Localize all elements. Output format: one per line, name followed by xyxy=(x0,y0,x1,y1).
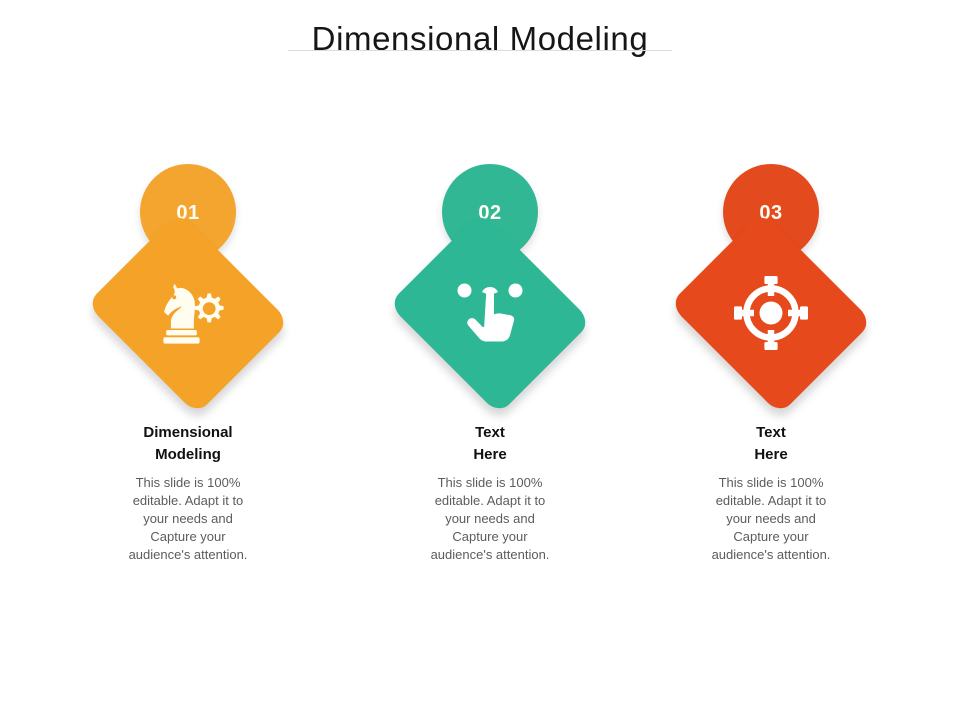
chess-knight-gear-icon xyxy=(93,218,283,408)
item-body-2: This slide is 100% editable. Adapt it to… xyxy=(349,474,631,564)
slide-canvas: Dimensional Modeling 01 xyxy=(0,0,960,720)
items-row: 01 xyxy=(0,150,960,620)
title-divider xyxy=(288,50,672,51)
item-heading-3: Text Here xyxy=(630,422,912,466)
tap-gesture-icon xyxy=(395,218,585,408)
diamond-shape-2[interactable] xyxy=(395,218,585,408)
item-caption-2: Text Here This slide is 100% editable. A… xyxy=(349,422,631,564)
item-heading-2: Text Here xyxy=(349,422,631,466)
item-body-3: This slide is 100% editable. Adapt it to… xyxy=(630,474,912,564)
item-caption-3: Text Here This slide is 100% editable. A… xyxy=(630,422,912,564)
title-block: Dimensional Modeling xyxy=(0,18,960,60)
page-title: Dimensional Modeling xyxy=(0,18,960,60)
item-heading-1: Dimensional Modeling xyxy=(47,422,329,466)
item-column-3[interactable]: 03 xyxy=(630,150,912,620)
item-column-2[interactable]: 02 Text Here This sli xyxy=(349,150,631,620)
item-column-1[interactable]: 01 xyxy=(47,150,329,620)
item-caption-1: Dimensional Modeling This slide is 100% … xyxy=(47,422,329,564)
target-crosshair-icon xyxy=(676,218,866,408)
diamond-shape-1[interactable] xyxy=(93,218,283,408)
diamond-shape-3[interactable] xyxy=(676,218,866,408)
item-body-1: This slide is 100% editable. Adapt it to… xyxy=(47,474,329,564)
